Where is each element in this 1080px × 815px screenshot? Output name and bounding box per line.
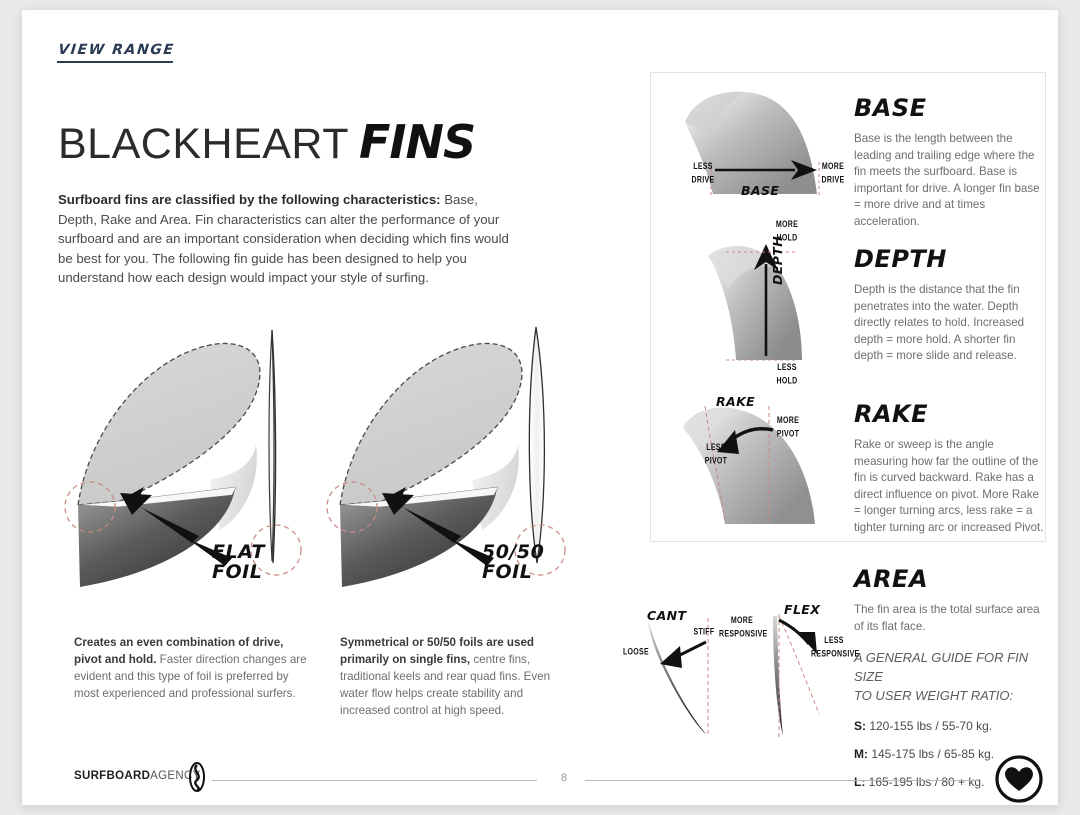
heart-badge-icon[interactable] [994,754,1044,804]
base-less-drive-label: LESS DRIVE [688,161,718,187]
cant-title-label: CANT [647,608,686,623]
section-base: BASE Base is the length between the lead… [854,94,1044,230]
cant-stiff-label: STIFF [692,626,716,639]
section-area-guide: A GENERAL GUIDE FOR FIN SIZE TO USER WEI… [854,648,1049,705]
document-page: VIEW RANGE BLACKHEARTFINS Surfboard fins… [22,10,1058,805]
rake-diagram [677,400,847,540]
title-blackheart: BLACKHEART [58,120,349,168]
fifty-fifty-foil-diagram [322,325,587,610]
flat-foil-label: FLAT FOIL [212,543,265,583]
rake-less-pivot-label: LESS PIVOT [700,442,732,468]
brand-surfboard: SURFBOARD [74,770,150,782]
surfboard-agency-logo-icon [184,762,210,798]
section-rake: RAKE Rake or sweep is the angle measurin… [854,400,1044,536]
section-base-heading: BASE [854,94,1044,122]
flat-foil-caption: Creates an even combination of drive, pi… [74,634,309,702]
base-arrow-label: BASE [741,183,779,198]
section-depth: DEPTH Depth is the distance that the fin… [854,245,1044,365]
title-fins: FINS [359,115,475,169]
section-rake-heading: RAKE [854,400,1044,428]
page-title: BLACKHEARTFINS [58,115,475,169]
section-area-heading: AREA [854,565,1049,593]
depth-diagram [702,238,832,378]
flex-title-label: FLEX [784,602,820,617]
intro-paragraph: Surfboard fins are classified by the fol… [58,190,518,288]
flex-diagram [757,602,867,747]
section-base-body: Base is the length between the leading a… [854,131,1044,230]
section-depth-body: Depth is the distance that the fin penet… [854,282,1044,365]
section-area-body: The fin area is the total surface area o… [854,602,1044,635]
flex-less-responsive-label: LESS RESPONSIVE [811,635,857,661]
cant-loose-label: LOOSE [620,646,652,659]
footer-brand: SURFBOARDAGENCY [74,770,201,782]
section-rake-body: Rake or sweep is the angle measuring how… [854,437,1044,536]
depth-less-hold-label: LESS HOLD [770,362,804,388]
intro-lead: Surfboard fins are classified by the fol… [58,192,441,207]
fifty-fifty-foil-label: 50/50 FOIL [482,543,544,583]
section-depth-heading: DEPTH [854,245,1044,273]
view-range-link[interactable]: VIEW RANGE [57,42,176,63]
footer-rule-right [585,780,977,781]
flex-more-responsive-label: MORE RESPONSIVE [719,615,765,641]
fifty-fifty-cross-section [529,327,544,563]
depth-arrow-label: DEPTH [770,236,785,285]
page-number: 8 [550,772,578,784]
base-more-drive-label: MORE DRIVE [818,161,848,187]
footer-rule-left [212,780,537,781]
size-row-s: S: 120-155 lbs / 55-70 kg. [854,719,1049,733]
fifty-fifty-foil-caption: Symmetrical or 50/50 foils are used prim… [340,634,575,719]
rake-title-label: RAKE [716,394,755,409]
rake-more-pivot-label: MORE PIVOT [772,415,804,441]
flat-foil-diagram [60,325,325,610]
